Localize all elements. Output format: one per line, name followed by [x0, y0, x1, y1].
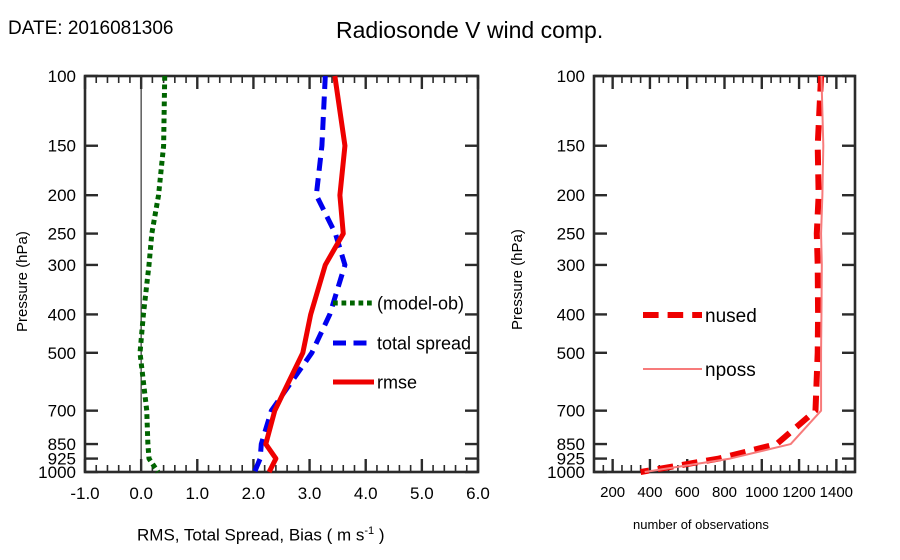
left-xtick-label: 4.0 — [354, 484, 378, 503]
right-xtick-label: 400 — [637, 484, 662, 501]
left-xtick-label: 5.0 — [410, 484, 434, 503]
right-ytick-label: 300 — [557, 256, 585, 275]
right-series-nposs — [645, 76, 824, 472]
left-plot-frame — [85, 76, 478, 472]
right-ytick-label: 1000 — [547, 463, 585, 482]
right-xtick-label: 600 — [675, 484, 700, 501]
left-ytick-label: 300 — [48, 256, 76, 275]
left-xtick-label: -1.0 — [70, 484, 99, 503]
right-legend-label-nused: nused — [705, 306, 757, 327]
left-xtick-label: 2.0 — [242, 484, 266, 503]
left-legend-label-modelob: (model-ob) — [377, 293, 464, 313]
left-legend-label-rmse: rmse — [377, 372, 417, 392]
right-ytick-label: 250 — [557, 225, 585, 244]
left-series-rmse — [266, 76, 345, 472]
right-xtick-label: 1200 — [782, 484, 815, 501]
chart-page: DATE: 2016081306 Radiosonde V wind comp.… — [0, 0, 900, 560]
right-xtick-label: 1000 — [745, 484, 778, 501]
plot-canvas: -1.00.01.02.03.04.05.06.0100150200250300… — [0, 0, 900, 560]
left-xtick-label: 6.0 — [466, 484, 490, 503]
left-legend-label-totalspread: total spread — [377, 333, 471, 353]
left-series-totalspread — [255, 76, 345, 472]
left-xtick-label: 0.0 — [129, 484, 153, 503]
left-ytick-label: 100 — [48, 67, 76, 86]
right-ytick-label: 150 — [557, 137, 585, 156]
right-legend-label-nposs: nposs — [705, 360, 756, 381]
left-xtick-label: 1.0 — [185, 484, 209, 503]
left-ytick-label: 250 — [48, 225, 76, 244]
left-xtick-label: 3.0 — [298, 484, 322, 503]
left-ytick-label: 500 — [48, 344, 76, 363]
left-ytick-label: 200 — [48, 186, 76, 205]
left-ytick-label: 150 — [48, 137, 76, 156]
right-ytick-label: 400 — [557, 305, 585, 324]
left-ytick-label: 700 — [48, 402, 76, 421]
right-ytick-label: 500 — [557, 344, 585, 363]
right-xtick-label: 200 — [600, 484, 625, 501]
right-ytick-label: 200 — [557, 186, 585, 205]
right-xtick-label: 800 — [712, 484, 737, 501]
right-ytick-label: 700 — [557, 402, 585, 421]
right-xtick-label: 1400 — [820, 484, 853, 501]
right-series-nused — [641, 76, 821, 472]
left-series-modelob — [140, 76, 165, 472]
left-ytick-label: 400 — [48, 305, 76, 324]
right-ytick-label: 100 — [557, 67, 585, 86]
left-ytick-label: 1000 — [38, 463, 76, 482]
